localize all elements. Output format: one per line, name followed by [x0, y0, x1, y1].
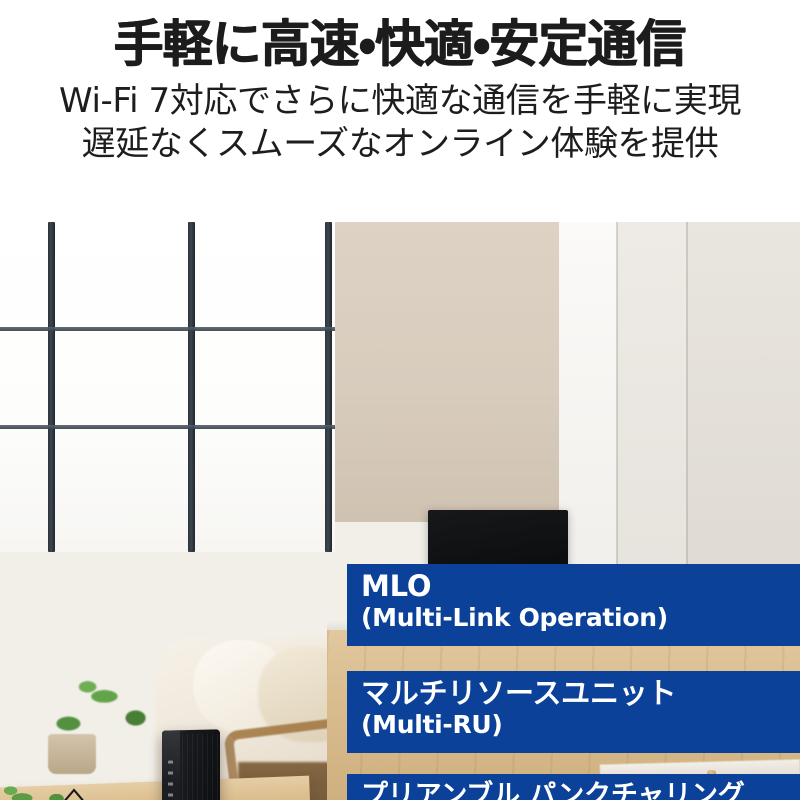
- header-text-block: 手軽に高速・快適・安定通信 Wi-Fi 7対応でさらに快適な通信を手軽に実現 遅…: [0, 0, 800, 222]
- feature-band-preamble-puncturing-title: プリアンブル パンクチャリング: [361, 781, 800, 800]
- wall-white-panel-a: [559, 222, 621, 582]
- feature-band-multi-ru-title: マルチリソースユニット: [361, 678, 800, 710]
- feature-band-preamble-puncturing: プリアンブル パンクチャリング (Preamble Puncturing): [347, 774, 800, 800]
- potted-plant-tall: [42, 674, 162, 754]
- feature-band-mlo: MLO (Multi-Link Operation): [347, 564, 800, 646]
- router-led-indicators: [168, 760, 173, 800]
- router-vent-slots: [182, 733, 218, 800]
- feature-band-mlo-subtitle: (Multi-Link Operation): [361, 604, 800, 632]
- feature-band-multi-ru-subtitle: (Multi-RU): [361, 711, 800, 739]
- subtitle-line-2: 遅延なくスムーズなオンライン体験を提供: [59, 123, 741, 166]
- window-wall: [0, 222, 335, 552]
- promo-page: 手軽に高速・快適・安定通信 Wi-Fi 7対応でさらに快適な通信を手軽に実現 遅…: [0, 0, 800, 800]
- window-mullion-vertical-2: [188, 222, 195, 552]
- geometric-lantern-decor: [45, 787, 103, 800]
- wall-beige-panel: [327, 222, 567, 522]
- window-mullion-horizontal-2: [0, 425, 335, 429]
- window-mullion-horizontal-1: [0, 327, 335, 331]
- feature-band-mlo-title: MLO: [361, 571, 800, 603]
- lifestyle-photo: HOYANGER キム ヨアム コンテンポラリー DESIGN HOTELS Y…: [0, 222, 800, 800]
- wifi-router-device: [162, 729, 220, 800]
- feature-band-multi-ru: マルチリソースユニット (Multi-RU): [347, 671, 800, 753]
- wall-white-panel-b: [617, 222, 689, 602]
- page-headline: 手軽に高速・快適・安定通信: [114, 18, 686, 71]
- window-mullion-vertical-1: [48, 222, 55, 552]
- page-subtitle: Wi-Fi 7対応でさらに快適な通信を手軽に実現 遅延なくスムーズなオンライン体…: [59, 80, 741, 166]
- window-mullion-vertical-3: [325, 222, 332, 552]
- subtitle-line-1: Wi-Fi 7対応でさらに快適な通信を手軽に実現: [59, 80, 741, 123]
